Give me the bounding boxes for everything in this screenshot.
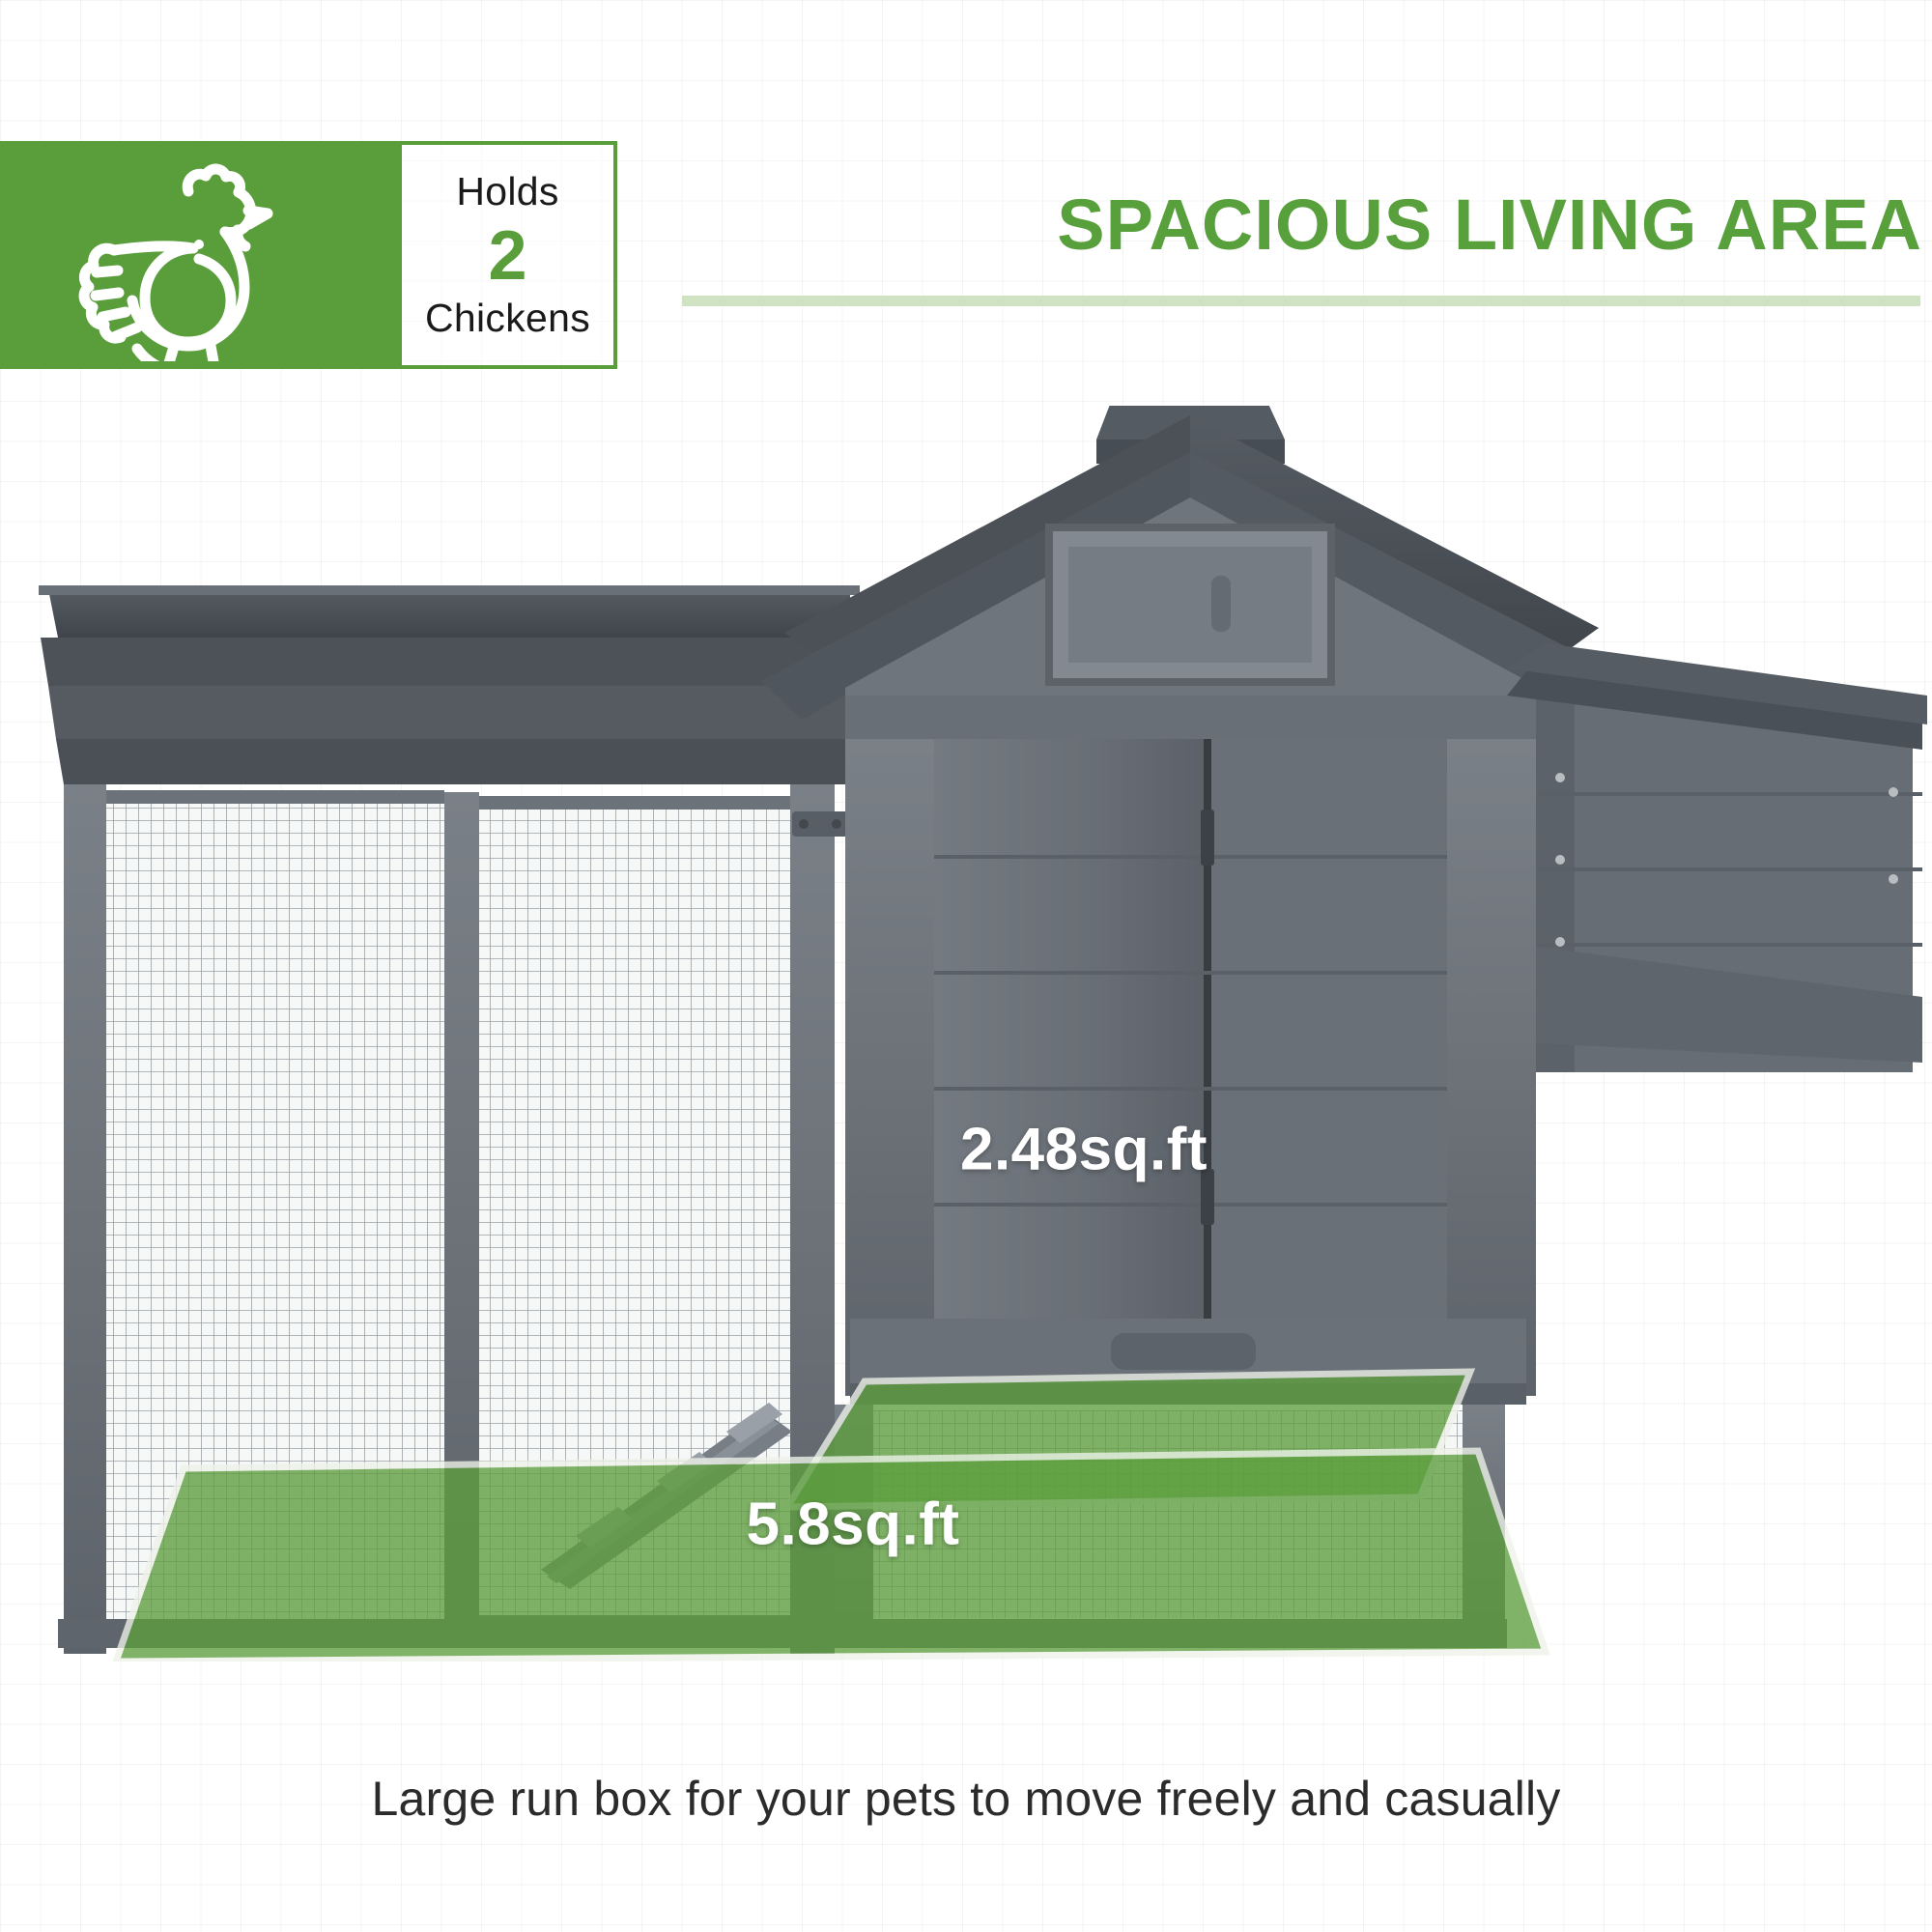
infographic-page: Holds 2 Chickens SPACIOUS LIVING AREA: [0, 0, 1932, 1932]
capacity-badge: Holds 2 Chickens: [0, 141, 617, 369]
chicken-icon: [56, 149, 346, 361]
run-post-left: [64, 784, 106, 1654]
title-block: SPACIOUS LIVING AREA: [676, 189, 1922, 306]
house-post-right: [1447, 739, 1536, 1396]
page-title: SPACIOUS LIVING AREA: [676, 189, 1922, 261]
right-extension: [1507, 643, 1927, 1072]
holds-count: 2: [488, 221, 526, 291]
holds-count-box: Holds 2 Chickens: [402, 141, 617, 369]
coop-doors: [934, 739, 1447, 1319]
holds-label: Holds: [456, 172, 558, 212]
tray-handle: [1111, 1333, 1256, 1370]
holds-unit-label: Chickens: [425, 298, 590, 338]
house-post-left: [845, 739, 934, 1396]
upper-vent-door: [1049, 527, 1331, 682]
area-overlay-lower: [116, 1451, 1546, 1662]
chicken-coop-illustration: [0, 406, 1932, 1662]
product-photo: [0, 406, 1932, 1662]
run-roof: [39, 585, 860, 784]
title-underline: [682, 296, 1920, 306]
chicken-icon-tile: [0, 141, 402, 369]
caption-text: Large run box for your pets to move free…: [0, 1771, 1932, 1827]
